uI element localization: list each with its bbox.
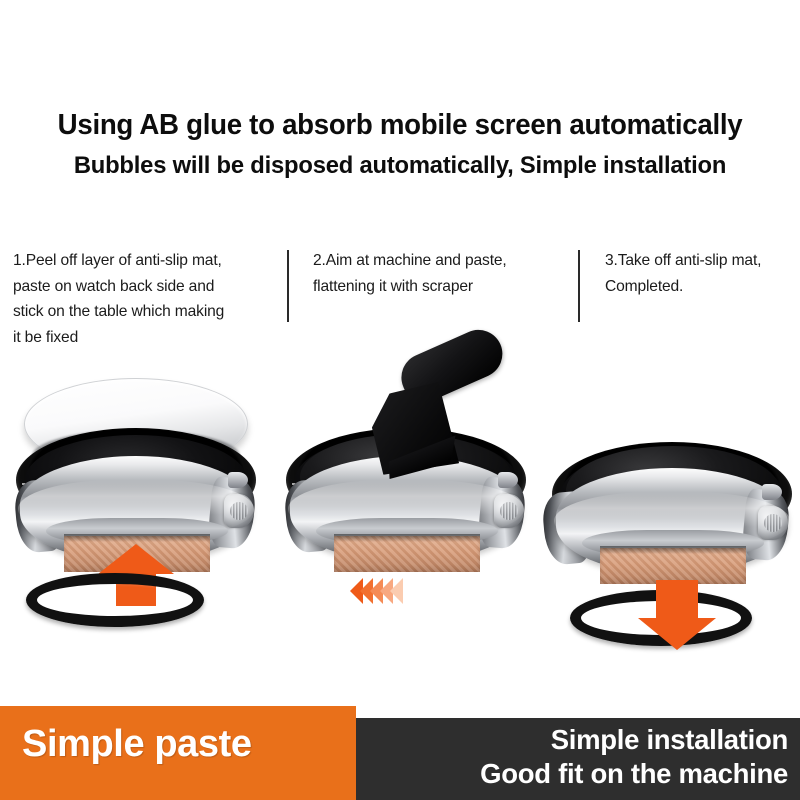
banner-orange-text: Simple paste xyxy=(22,723,252,766)
banner-orange-block: Simple paste xyxy=(0,706,356,800)
headline-secondary: Bubbles will be disposed automatically, … xyxy=(12,151,788,181)
watch-crown xyxy=(758,506,788,540)
smartwatch-side-view-3 xyxy=(530,368,800,640)
watch-crown xyxy=(494,494,524,528)
steps-text-row: 1.Peel off layer of anti-slip mat, paste… xyxy=(0,248,800,358)
watch-side-button xyxy=(762,484,782,500)
product-instruction-graphic: Using AB glue to absorb mobile screen au… xyxy=(0,0,800,800)
step-3-line-2: Completed. xyxy=(605,274,800,300)
chevron-5 xyxy=(390,578,403,604)
step-1-illustration xyxy=(2,368,272,640)
strap-shadow xyxy=(64,534,210,542)
step-2-line-1: 2.Aim at machine and paste, xyxy=(313,248,563,274)
watch-side-button xyxy=(228,472,248,488)
watch-side-button xyxy=(498,472,518,488)
arrow-down-icon-shaft xyxy=(656,580,698,622)
strap-shadow xyxy=(600,546,746,554)
banner-dark-line-1: Simple installation xyxy=(551,724,788,756)
anti-slip-mat-ring xyxy=(26,573,204,627)
step-1-line-2: paste on watch back side and xyxy=(13,274,281,300)
watch-crown xyxy=(224,494,254,528)
smartwatch-side-view-2 xyxy=(272,368,542,640)
step-1-line-4: it be fixed xyxy=(13,325,281,351)
headline-block: Using AB glue to absorb mobile screen au… xyxy=(0,108,800,181)
step-1-text: 1.Peel off layer of anti-slip mat, paste… xyxy=(13,248,281,350)
chevrons-left-icon xyxy=(350,576,470,606)
step-2-illustration xyxy=(272,368,542,640)
step-3-text: 3.Take off anti-slip mat, Completed. xyxy=(605,248,800,299)
headline-primary: Using AB glue to absorb mobile screen au… xyxy=(12,108,788,142)
step-2-line-2: flattening it with scraper xyxy=(313,274,563,300)
banner-dark-block: Simple installation Good fit on the mach… xyxy=(356,718,800,800)
step-2-text: 2.Aim at machine and paste, flattening i… xyxy=(313,248,563,299)
arrow-up-icon-head xyxy=(98,544,174,574)
strap-shadow xyxy=(334,534,480,542)
step-1-line-1: 1.Peel off layer of anti-slip mat, xyxy=(13,248,281,274)
smartwatch-side-view-1 xyxy=(2,368,272,640)
step-3-line-1: 3.Take off anti-slip mat, xyxy=(605,248,800,274)
banner-dark-line-2: Good fit on the machine xyxy=(480,758,788,790)
column-divider-2 xyxy=(578,250,580,322)
column-divider-1 xyxy=(287,250,289,322)
arrow-down-icon-head xyxy=(638,618,716,650)
step-1-line-3: stick on the table which making xyxy=(13,299,281,325)
step-3-illustration xyxy=(530,368,800,640)
